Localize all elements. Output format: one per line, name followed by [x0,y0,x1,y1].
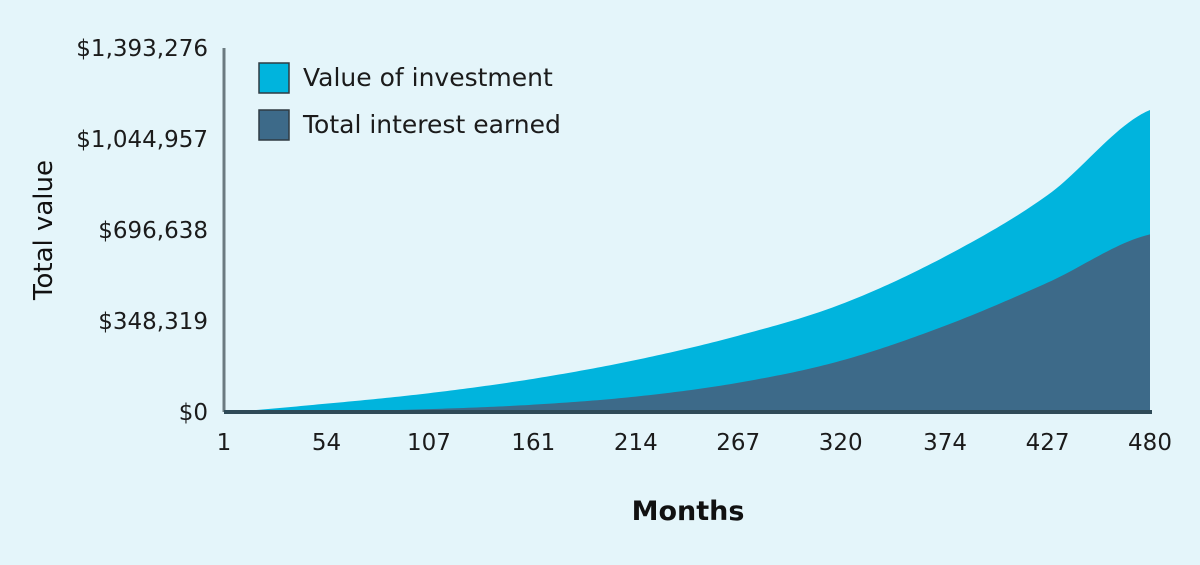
x-tick-label: 54 [312,430,341,456]
chart-container: $0$348,319$696,638$1,044,957$1,393,276 1… [0,0,1200,565]
y-tick-label: $348,319 [98,309,208,335]
x-tick-label: 267 [716,430,760,456]
x-tick-label: 480 [1128,430,1172,456]
x-tick-label: 1 [217,430,232,456]
y-tick-label: $1,393,276 [76,36,208,62]
y-tick-label: $1,044,957 [76,127,208,153]
x-tick-label: 214 [614,430,658,456]
y-tick-label: $696,638 [98,218,208,244]
legend-swatch-1 [259,63,289,93]
x-tick-label: 107 [407,430,451,456]
legend-label-1: Value of investment [303,63,553,92]
x-tick-label: 161 [511,430,555,456]
area-chart: $0$348,319$696,638$1,044,957$1,393,276 1… [0,0,1200,565]
legend-swatch-2 [259,110,289,140]
y-tick-label: $0 [179,400,208,426]
legend-label-2: Total interest earned [302,110,561,139]
x-tick-label: 374 [923,430,967,456]
x-axis-title: Months [632,496,745,527]
x-tick-label: 427 [1026,430,1070,456]
x-tick-label: 320 [819,430,863,456]
y-axis-title: Total value [29,160,59,301]
